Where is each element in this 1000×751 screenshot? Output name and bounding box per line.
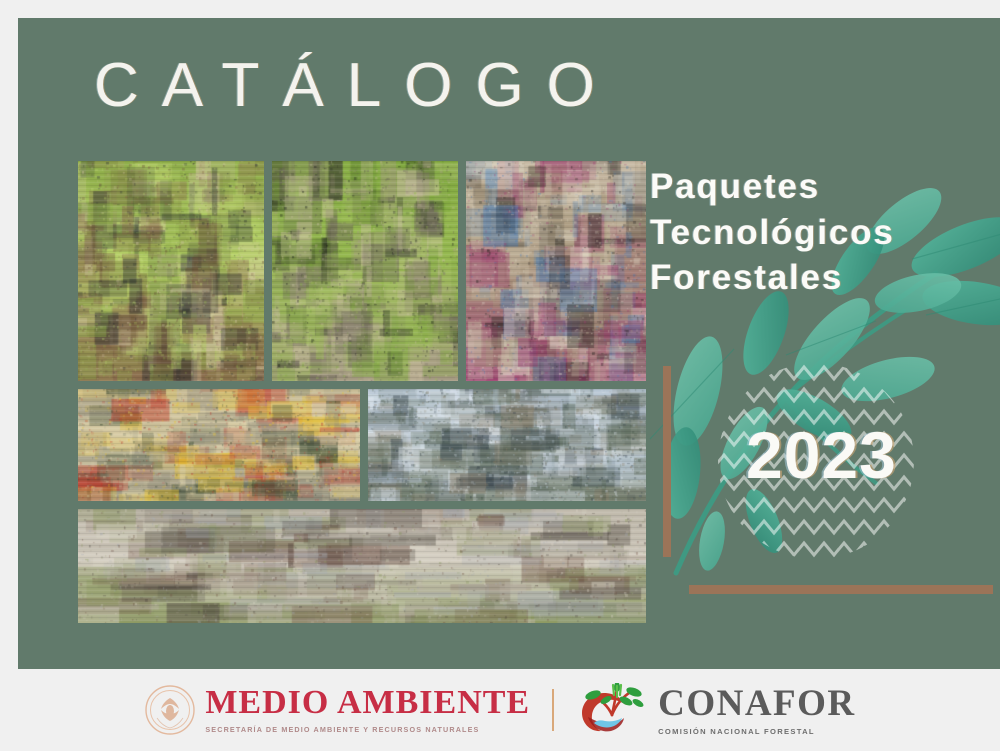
cover-page: CATÁLOGO Paquetes Tecnológicos Forestale… <box>0 0 1000 751</box>
photo-pine-seedlings-nursery-trays <box>78 161 264 381</box>
horizontal-accent-bar <box>689 585 993 594</box>
conafor-plant-swirl-icon <box>576 683 650 737</box>
photo-cactus-with-beetle <box>272 161 458 381</box>
subtitle-line-1: Paquetes <box>650 164 1000 210</box>
cover-panel: CATÁLOGO Paquetes Tecnológicos Forestale… <box>18 18 1000 669</box>
photo-charcoal-kilns-field-workshop <box>78 509 646 623</box>
photo-woman-stacking-sawn-timber <box>466 161 646 381</box>
conafor-title: CONAFOR <box>658 685 856 722</box>
subtitle-block: Paquetes Tecnológicos Forestales <box>650 164 1000 301</box>
conafor-logo: CONAFOR COMISIÓN NACIONAL FORESTAL <box>576 683 856 737</box>
semarnat-title: MEDIO AMBIENTE <box>205 686 530 720</box>
photo-group-in-front-of-shade-greenhouse <box>368 389 646 501</box>
logo-divider <box>552 689 554 731</box>
conafor-subtitle: COMISIÓN NACIONAL FORESTAL <box>658 727 856 736</box>
subtitle-line-2: Tecnológicos <box>650 210 1000 256</box>
year-label: 2023 <box>746 422 897 488</box>
photo-collage <box>78 161 646 623</box>
vertical-accent-bar <box>663 366 671 557</box>
subtitle-line-3: Forestales <box>650 255 1000 301</box>
footer-logo-bar: MEDIO AMBIENTE SECRETARÍA DE MEDIO AMBIE… <box>0 669 1000 751</box>
mexican-coat-of-arms-seal-icon <box>144 684 196 736</box>
photo-group-with-seedling-press-equipment <box>78 389 360 501</box>
semarnat-subtitle: SECRETARÍA DE MEDIO AMBIENTE Y RECURSOS … <box>205 725 530 734</box>
page-title: CATÁLOGO <box>94 55 618 117</box>
semarnat-logo: MEDIO AMBIENTE SECRETARÍA DE MEDIO AMBIE… <box>144 684 530 736</box>
